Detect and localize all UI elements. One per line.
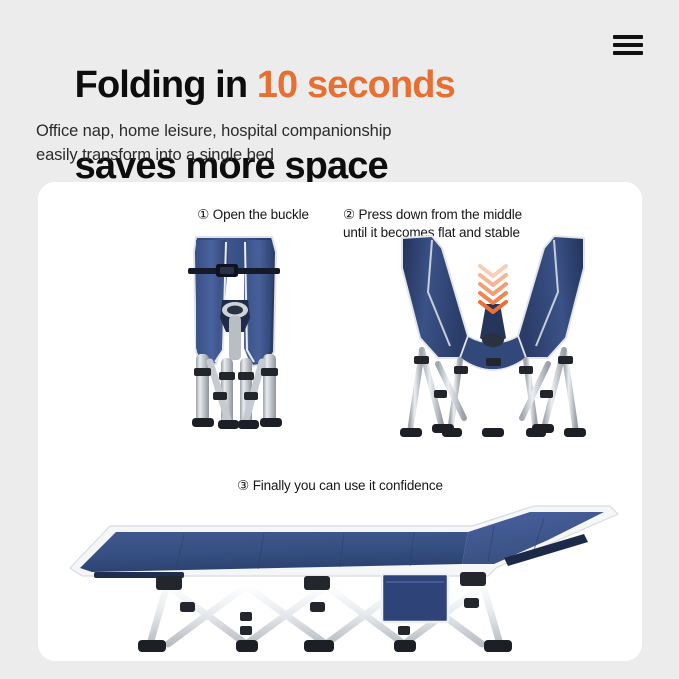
v-cot-right-arm xyxy=(518,236,584,358)
headline-part-1: Folding in xyxy=(75,64,257,106)
cot-legs xyxy=(192,354,282,429)
hamburger-bar-3 xyxy=(613,51,643,55)
v-cot-left-arm xyxy=(402,236,468,358)
hamburger-bar-1 xyxy=(613,35,643,39)
v-cot-svg xyxy=(398,232,588,457)
cot-center-hinge-inner xyxy=(227,306,243,315)
cot-fabric-right-leaf xyxy=(244,240,274,363)
step-3-label: ③ Finally you can use it confidence xyxy=(38,477,642,495)
v-cot-center-hinge xyxy=(482,333,504,347)
cot-buckle-inner xyxy=(220,267,234,274)
step-3-illustration xyxy=(64,502,624,652)
hamburger-bar-2 xyxy=(613,43,643,47)
step-1-label: ① Open the buckle xyxy=(138,206,368,224)
headline-accent: 10 seconds xyxy=(257,64,455,106)
step-1-illustration xyxy=(166,232,302,457)
subtitle-line-2: easily transform into a single bed xyxy=(36,144,556,168)
unfolded-bed-svg xyxy=(64,502,624,652)
folded-cot-svg xyxy=(166,232,302,457)
instructions-card: ① Open the buckle ② Press down from the … xyxy=(38,182,642,661)
cot-center-post xyxy=(229,316,241,360)
page-header: Folding in 10 seconds saves more space O… xyxy=(0,0,679,182)
step-2-illustration xyxy=(398,232,588,457)
page-subtitle: Office nap, home leisure, hospital compa… xyxy=(36,120,556,168)
subtitle-line-1: Office nap, home leisure, hospital compa… xyxy=(36,120,556,144)
bed-feet xyxy=(138,640,512,652)
hamburger-menu-icon[interactable] xyxy=(613,33,643,57)
bed-side-pocket xyxy=(382,574,448,622)
